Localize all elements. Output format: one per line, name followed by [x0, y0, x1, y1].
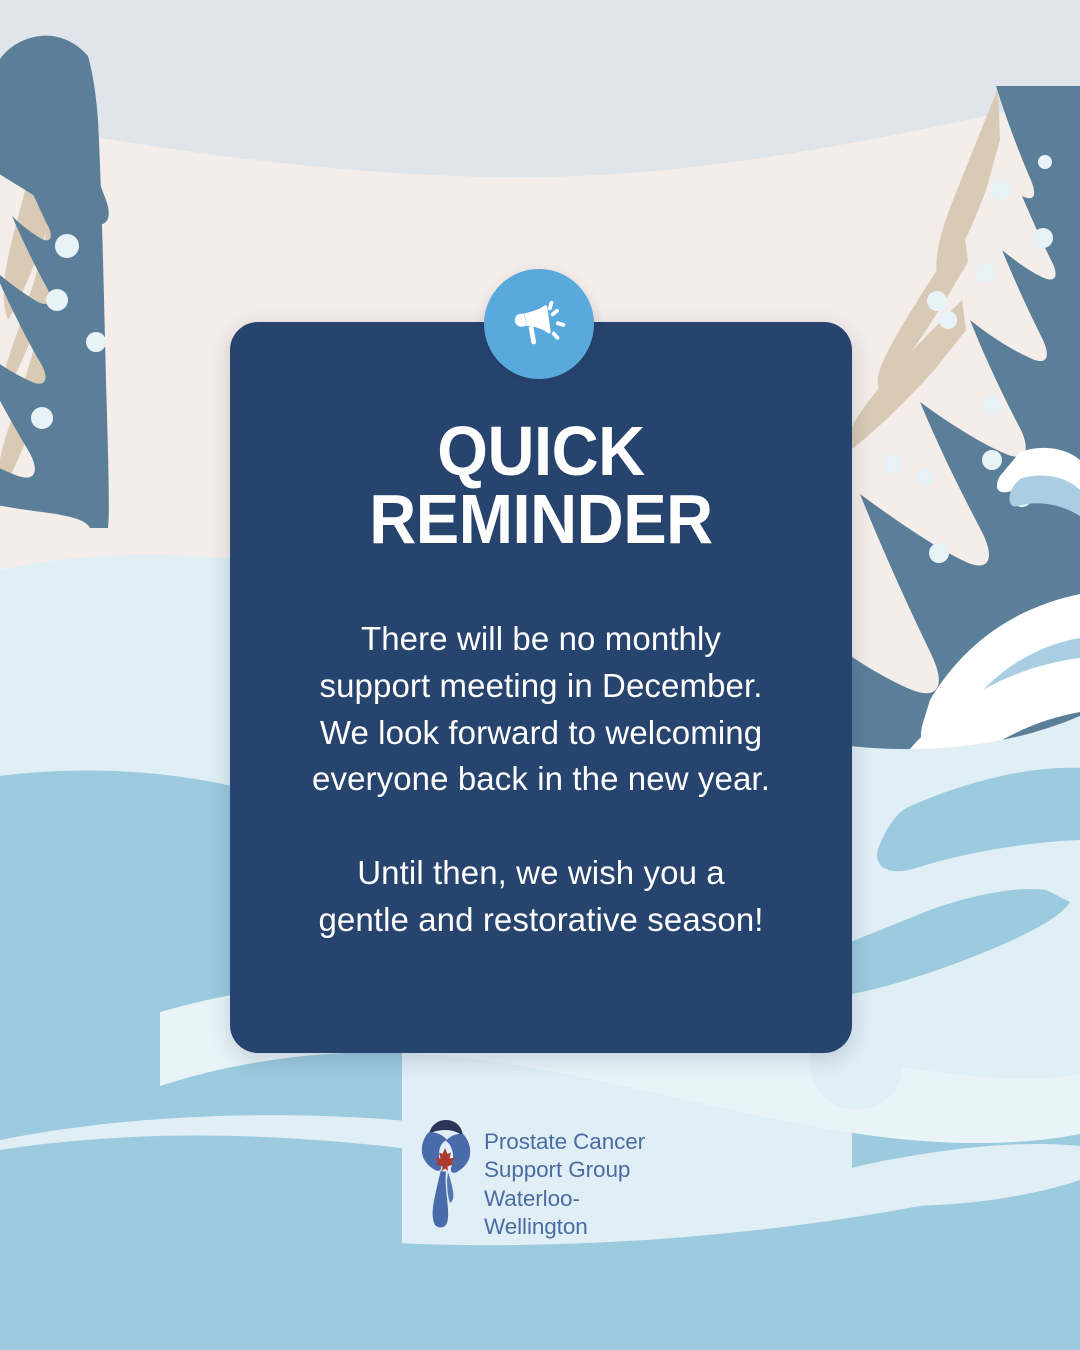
- right-tree-ornament: [991, 180, 1011, 200]
- left-tree-ornament: [86, 332, 106, 352]
- right-tree-ornament: [939, 311, 957, 329]
- right-tree-ornament: [883, 454, 903, 474]
- poster-canvas: QUICK REMINDER There will be no monthly …: [0, 0, 1080, 1350]
- megaphone-icon: [508, 293, 570, 355]
- card-body-text: There will be no monthly support meeting…: [264, 554, 818, 944]
- logo-text: Prostate Cancer Support Group Waterloo-W…: [484, 1118, 674, 1241]
- left-pine-tree: [0, 36, 109, 528]
- right-tree-ornament: [976, 263, 996, 283]
- right-tree-ornament: [916, 468, 934, 486]
- right-tree-ornament: [929, 543, 949, 563]
- right-tree-ornament: [1033, 228, 1053, 248]
- right-tree-ornament: [982, 450, 1002, 470]
- card-title: QUICK REMINDER: [283, 418, 798, 554]
- organization-logo: Prostate Cancer Support Group Waterloo-W…: [414, 1118, 674, 1233]
- left-tree-ornament: [46, 289, 68, 311]
- right-tree-ornament: [927, 291, 947, 311]
- right-tree-ornament: [982, 395, 1002, 415]
- announcement-card: QUICK REMINDER There will be no monthly …: [230, 322, 852, 1053]
- left-tree-ornament: [55, 234, 79, 258]
- left-tree-ornament: [31, 407, 53, 429]
- right-tree-ornament: [1038, 155, 1052, 169]
- megaphone-badge: [484, 269, 594, 379]
- prostate-cancer-ribbon-icon: [414, 1118, 476, 1230]
